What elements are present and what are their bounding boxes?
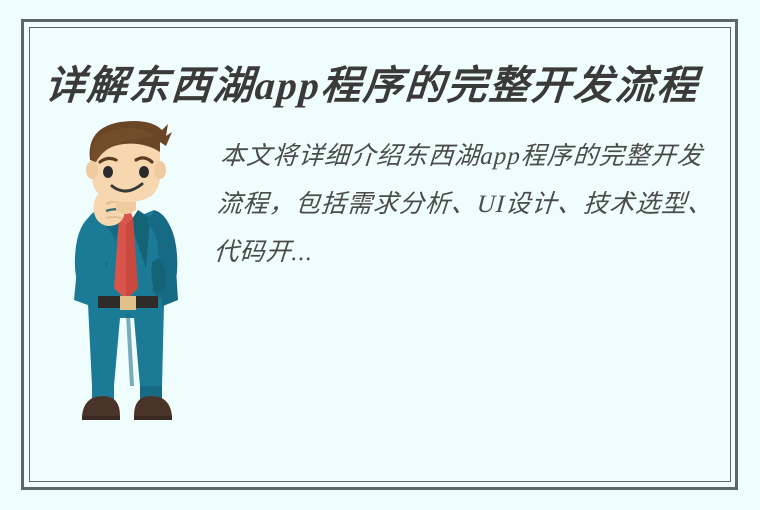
belt-buckle xyxy=(120,296,136,310)
right-ear xyxy=(154,161,166,179)
right-shoe-sole xyxy=(134,416,172,420)
left-shoe xyxy=(82,396,120,416)
left-shoe-sole xyxy=(82,416,120,420)
thinking-businessman-illustration xyxy=(62,118,190,423)
right-eye xyxy=(139,166,149,178)
trousers xyxy=(88,304,164,386)
trouser-crease xyxy=(126,314,134,386)
left-ear xyxy=(86,161,98,179)
article-summary: 本文将详细介绍东西湖app程序的完整开发流程，包括需求分析、UI设计、技术选型、… xyxy=(212,133,727,277)
page-root: 详解东西湖app程序的完整开发流程 本文将详细介绍东西湖app程序的完整开发流程… xyxy=(0,0,760,510)
article-title: 详解东西湖app程序的完整开发流程 xyxy=(43,58,697,114)
left-eye xyxy=(103,166,113,178)
finger-line-3 xyxy=(106,217,122,218)
right-shoe xyxy=(134,396,172,416)
businessman-vector xyxy=(62,118,190,423)
